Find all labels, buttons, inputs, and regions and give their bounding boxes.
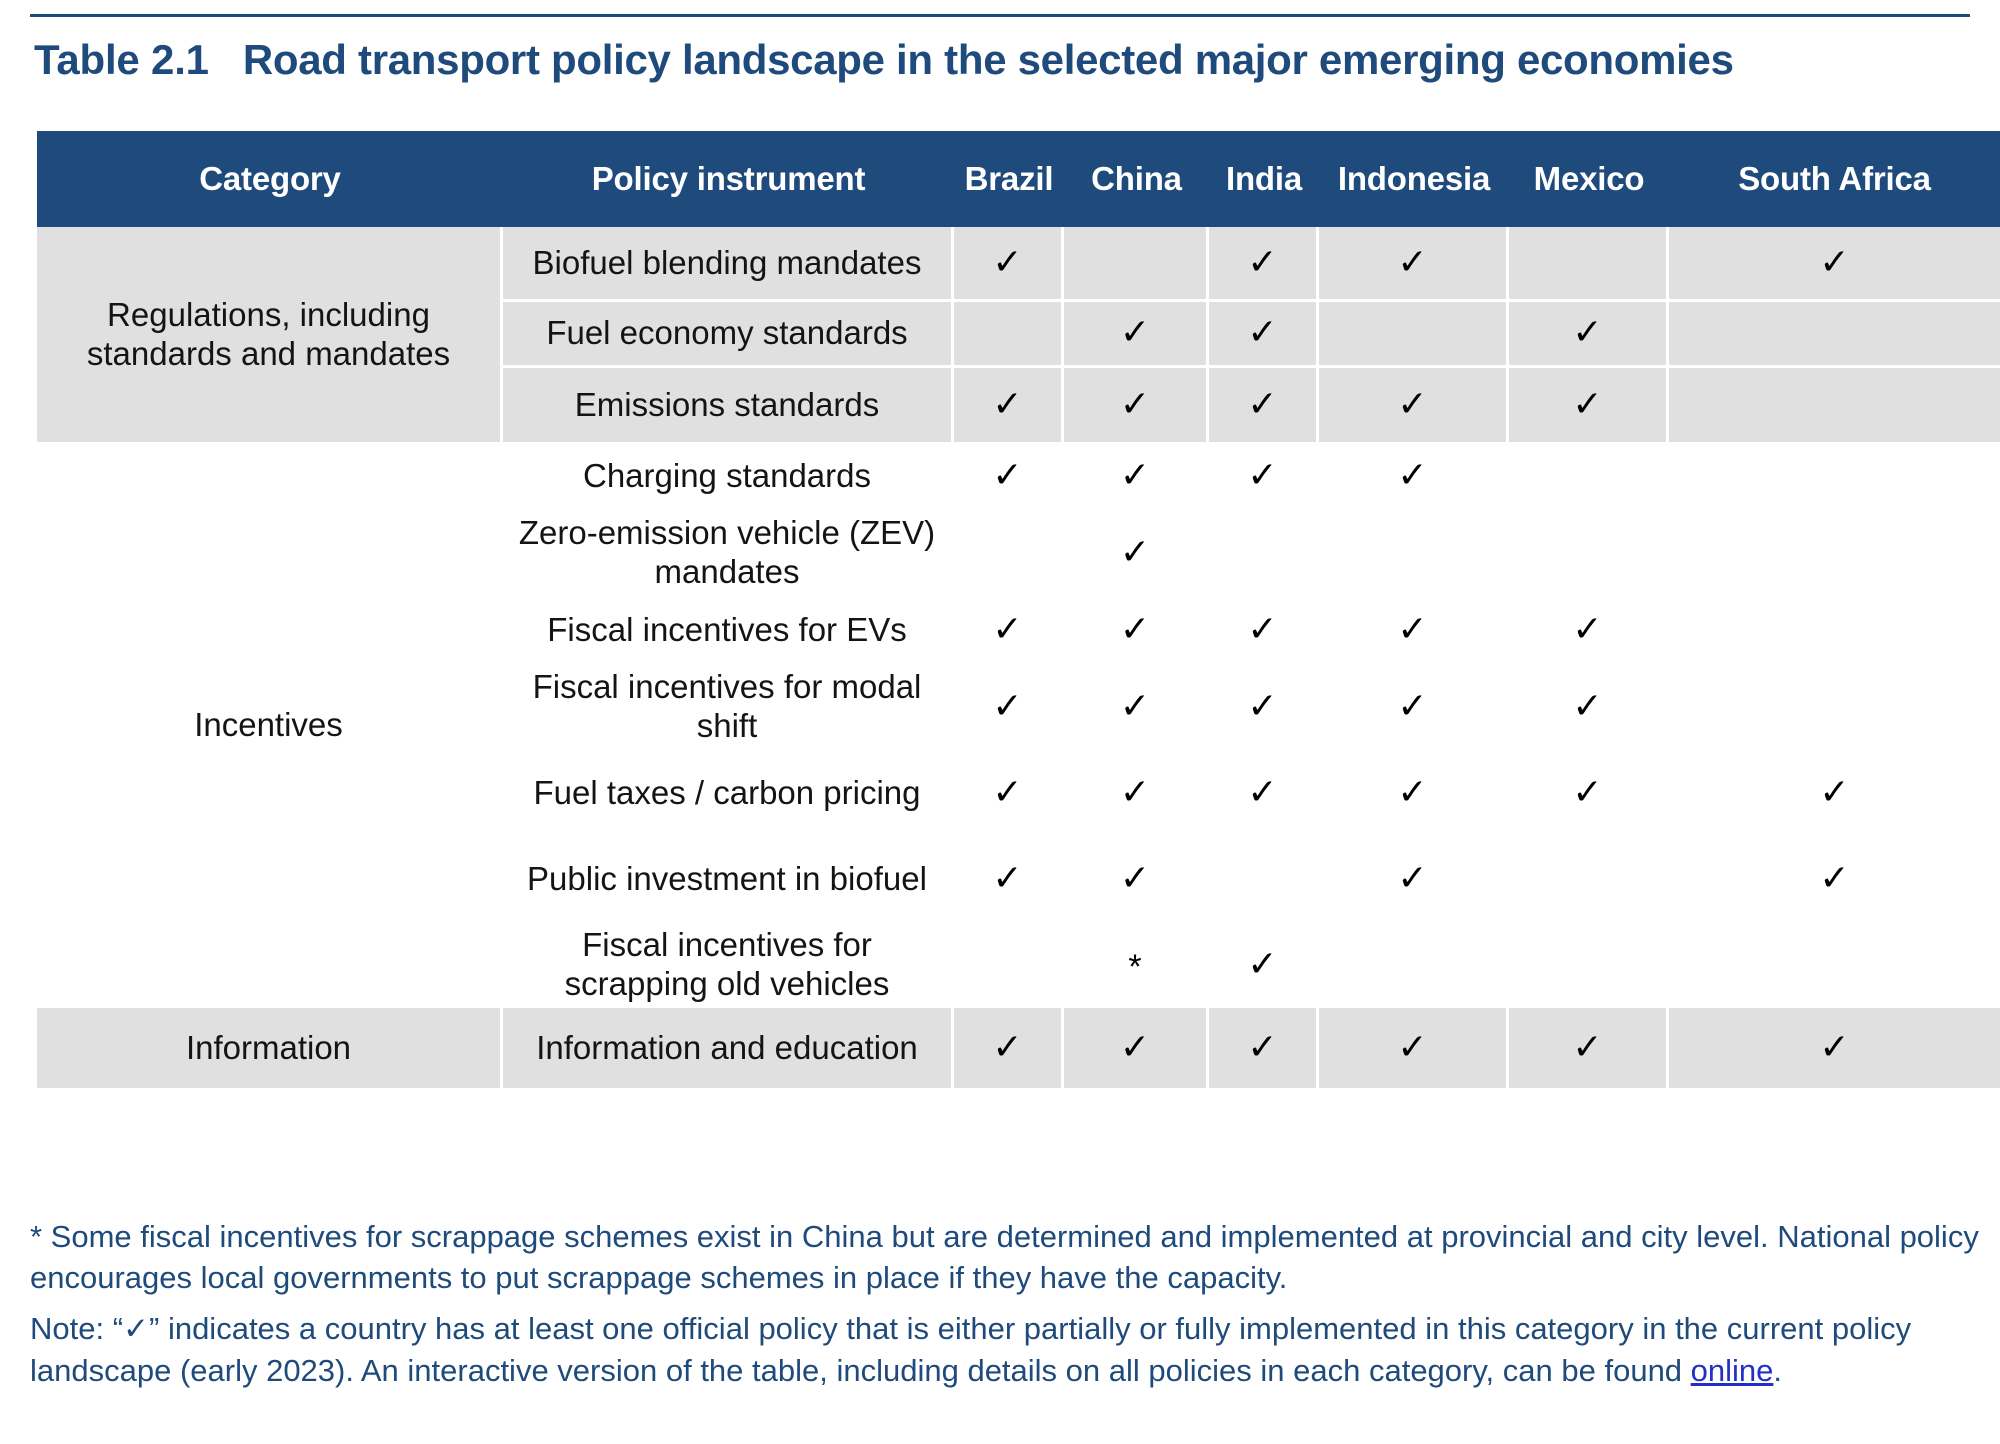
category-label: Information — [37, 1029, 500, 1068]
policy-table-container: Category Policy instrument Brazil China … — [37, 131, 2000, 1088]
policy-mark-cell: ✓ — [954, 227, 1064, 302]
policy-mark-cell — [1209, 510, 1319, 596]
policy-mark-cell — [954, 302, 1064, 368]
category-cell: Regulations, including standards and man… — [37, 227, 503, 442]
policy-mark-cell: ✓ — [1509, 368, 1669, 442]
policy-mark-cell: ✓ — [954, 368, 1064, 442]
policy-instrument-label: Information and education — [503, 1029, 951, 1068]
check-icon: ✓ — [1819, 861, 1849, 897]
check-icon: ✓ — [1120, 775, 1150, 811]
policy-instrument-label: Fiscal incentives for scrapping old vehi… — [503, 926, 951, 1004]
policy-instrument-cell: Biofuel blending mandates — [503, 227, 954, 302]
policy-mark-cell: ✓ — [1209, 596, 1319, 664]
asterisk-icon: * — [1128, 950, 1141, 984]
policy-mark-cell: ✓ — [1509, 1008, 1669, 1088]
policy-mark-cell — [1064, 227, 1209, 302]
policy-mark-cell: ✓ — [1319, 1008, 1509, 1088]
check-icon: ✓ — [1247, 458, 1277, 494]
table-row: Regulations, including standards and man… — [37, 227, 2000, 302]
page-title: Table 2.1 Road transport policy landscap… — [34, 36, 1734, 84]
check-icon: ✓ — [1397, 245, 1427, 281]
column-header-brazil: Brazil — [954, 131, 1064, 227]
check-icon: ✓ — [992, 612, 1022, 648]
policy-mark-cell — [1669, 664, 2000, 750]
policy-mark-cell — [954, 922, 1064, 1008]
header-row: Category Policy instrument Brazil China … — [37, 131, 2000, 227]
policy-mark-cell — [1509, 227, 1669, 302]
policy-mark-cell: ✓ — [1064, 302, 1209, 368]
check-icon: ✓ — [1247, 775, 1277, 811]
policy-mark-cell: ✓ — [954, 1008, 1064, 1088]
policy-instrument-cell: Fiscal incentives for modal shift — [503, 664, 954, 750]
check-icon: ✓ — [1247, 315, 1277, 351]
policy-mark-cell: ✓ — [1319, 227, 1509, 302]
check-icon: ✓ — [1572, 775, 1602, 811]
category-cell: Information — [37, 1008, 503, 1088]
policy-instrument-label: Public investment in biofuel — [503, 860, 951, 899]
policy-mark-cell — [1209, 836, 1319, 922]
check-icon: ✓ — [992, 1030, 1022, 1066]
policy-mark-cell: ✓ — [1209, 442, 1319, 510]
note-text-before-link: Note: “✓” indicates a country has at lea… — [30, 1311, 1911, 1387]
policy-mark-cell: ✓ — [1064, 510, 1209, 596]
policy-mark-cell — [1509, 922, 1669, 1008]
check-icon: ✓ — [1397, 387, 1427, 423]
footnote-asterisk: * Some fiscal incentives for scrappage s… — [30, 1216, 1985, 1298]
check-icon: ✓ — [1397, 458, 1427, 494]
policy-mark-cell: ✓ — [1064, 1008, 1209, 1088]
check-icon: ✓ — [1397, 775, 1427, 811]
check-icon: ✓ — [1572, 689, 1602, 725]
policy-mark-cell: ✓ — [1319, 836, 1509, 922]
check-icon: ✓ — [1247, 612, 1277, 648]
check-icon: ✓ — [992, 458, 1022, 494]
table-page: Table 2.1 Road transport policy landscap… — [0, 0, 2000, 1444]
policy-mark-cell: ✓ — [1319, 596, 1509, 664]
check-icon: ✓ — [1120, 689, 1150, 725]
table-row: IncentivesCharging standards✓✓✓✓ — [37, 442, 2000, 510]
policy-mark-cell: ✓ — [1064, 750, 1209, 836]
check-icon: ✓ — [992, 689, 1022, 725]
column-header-india: India — [1209, 131, 1319, 227]
policy-mark-cell — [1669, 596, 2000, 664]
policy-mark-cell: ✓ — [954, 442, 1064, 510]
policy-mark-cell: ✓ — [954, 596, 1064, 664]
column-header-category: Category — [37, 131, 503, 227]
policy-instrument-label: Fuel economy standards — [503, 314, 951, 353]
check-icon: ✓ — [992, 387, 1022, 423]
policy-mark-cell: ✓ — [1209, 922, 1319, 1008]
policy-instrument-cell: Zero-emission vehicle (ZEV) mandates — [503, 510, 954, 596]
table-row: InformationInformation and education✓✓✓✓… — [37, 1008, 2000, 1088]
table-body: Regulations, including standards and man… — [37, 227, 2000, 1088]
policy-instrument-cell: Fuel taxes / carbon pricing — [503, 750, 954, 836]
policy-mark-cell: ✓ — [1319, 664, 1509, 750]
check-icon: ✓ — [1247, 689, 1277, 725]
policy-instrument-cell: Fiscal incentives for scrapping old vehi… — [503, 922, 954, 1008]
table-header: Category Policy instrument Brazil China … — [37, 131, 2000, 227]
check-icon: ✓ — [1120, 535, 1150, 571]
policy-mark-cell — [1319, 922, 1509, 1008]
online-link[interactable]: online — [1691, 1353, 1774, 1388]
policy-mark-cell: ✓ — [954, 836, 1064, 922]
policy-mark-cell: ✓ — [954, 664, 1064, 750]
check-icon: ✓ — [1120, 861, 1150, 897]
policy-mark-cell: ✓ — [1669, 227, 2000, 302]
policy-instrument-cell: Fuel economy standards — [503, 302, 954, 368]
check-icon: ✓ — [1247, 387, 1277, 423]
check-icon: ✓ — [1120, 387, 1150, 423]
policy-mark-cell — [1509, 442, 1669, 510]
check-icon: ✓ — [1572, 612, 1602, 648]
note-paragraph: Note: “✓” indicates a country has at lea… — [30, 1308, 1985, 1390]
table-notes: * Some fiscal incentives for scrappage s… — [30, 1216, 1985, 1401]
policy-mark-cell: ✓ — [1209, 750, 1319, 836]
table-number-label: Table 2.1 — [34, 36, 209, 84]
column-header-mexico: Mexico — [1509, 131, 1669, 227]
check-icon: ✓ — [1120, 458, 1150, 494]
policy-mark-cell: ✓ — [1669, 836, 2000, 922]
check-icon: ✓ — [1572, 387, 1602, 423]
policy-instrument-cell: Fiscal incentives for EVs — [503, 596, 954, 664]
check-icon: ✓ — [1247, 1030, 1277, 1066]
policy-mark-cell: ✓ — [1509, 750, 1669, 836]
policy-mark-cell: ✓ — [1209, 227, 1319, 302]
policy-instrument-label: Zero-emission vehicle (ZEV) mandates — [503, 514, 951, 592]
table-title-text: Road transport policy landscape in the s… — [243, 36, 1734, 84]
policy-mark-cell: ✓ — [1319, 750, 1509, 836]
check-icon: ✓ — [1397, 861, 1427, 897]
policy-mark-cell — [1509, 836, 1669, 922]
policy-instrument-cell: Public investment in biofuel — [503, 836, 954, 922]
policy-mark-cell — [1669, 510, 2000, 596]
policy-mark-cell — [1669, 442, 2000, 510]
check-icon: ✓ — [1819, 1030, 1849, 1066]
policy-mark-cell: * — [1064, 922, 1209, 1008]
top-rule-divider — [30, 14, 1970, 17]
policy-instrument-cell: Charging standards — [503, 442, 954, 510]
policy-instrument-label: Fuel taxes / carbon pricing — [503, 774, 951, 813]
policy-instrument-cell: Emissions standards — [503, 368, 954, 442]
check-icon: ✓ — [992, 861, 1022, 897]
check-icon: ✓ — [992, 775, 1022, 811]
policy-mark-cell: ✓ — [1209, 664, 1319, 750]
policy-mark-cell: ✓ — [1319, 442, 1509, 510]
check-icon: ✓ — [1819, 245, 1849, 281]
check-icon: ✓ — [1120, 315, 1150, 351]
check-icon: ✓ — [1572, 1030, 1602, 1066]
policy-table: Category Policy instrument Brazil China … — [37, 131, 2000, 1088]
check-icon: ✓ — [1819, 775, 1849, 811]
policy-mark-cell — [1319, 510, 1509, 596]
column-header-policy-instrument: Policy instrument — [503, 131, 954, 227]
policy-mark-cell: ✓ — [1209, 1008, 1319, 1088]
check-icon: ✓ — [1572, 315, 1602, 351]
policy-mark-cell — [1669, 922, 2000, 1008]
policy-mark-cell: ✓ — [1209, 368, 1319, 442]
policy-mark-cell: ✓ — [1209, 302, 1319, 368]
policy-mark-cell: ✓ — [1509, 664, 1669, 750]
policy-mark-cell: ✓ — [1064, 442, 1209, 510]
policy-mark-cell: ✓ — [1319, 368, 1509, 442]
check-icon: ✓ — [1247, 947, 1277, 983]
policy-mark-cell: ✓ — [1669, 750, 2000, 836]
category-label: Regulations, including standards and man… — [37, 296, 500, 374]
policy-instrument-label: Fiscal incentives for modal shift — [503, 668, 951, 746]
policy-instrument-label: Biofuel blending mandates — [503, 244, 951, 283]
policy-instrument-cell: Information and education — [503, 1008, 954, 1088]
policy-instrument-label: Emissions standards — [503, 386, 951, 425]
policy-mark-cell: ✓ — [1064, 836, 1209, 922]
column-header-indonesia: Indonesia — [1319, 131, 1509, 227]
policy-mark-cell: ✓ — [1064, 368, 1209, 442]
policy-mark-cell — [1669, 302, 2000, 368]
check-icon: ✓ — [992, 245, 1022, 281]
policy-instrument-label: Fiscal incentives for EVs — [503, 611, 951, 650]
column-header-china: China — [1064, 131, 1209, 227]
check-icon: ✓ — [1397, 1030, 1427, 1066]
policy-mark-cell — [1669, 368, 2000, 442]
policy-mark-cell: ✓ — [954, 750, 1064, 836]
category-label: Incentives — [37, 706, 500, 745]
check-icon: ✓ — [1120, 1030, 1150, 1066]
policy-mark-cell: ✓ — [1669, 1008, 2000, 1088]
check-icon: ✓ — [1397, 612, 1427, 648]
policy-mark-cell — [1319, 302, 1509, 368]
policy-mark-cell: ✓ — [1064, 596, 1209, 664]
column-header-south-africa: South Africa — [1669, 131, 2000, 227]
check-icon: ✓ — [1247, 245, 1277, 281]
check-icon: ✓ — [1120, 612, 1150, 648]
check-icon: ✓ — [1397, 689, 1427, 725]
policy-instrument-label: Charging standards — [503, 457, 951, 496]
policy-mark-cell — [954, 510, 1064, 596]
category-cell: Incentives — [37, 442, 503, 1008]
policy-mark-cell: ✓ — [1064, 664, 1209, 750]
note-text-after-link: . — [1773, 1353, 1782, 1388]
policy-mark-cell: ✓ — [1509, 596, 1669, 664]
policy-mark-cell — [1509, 510, 1669, 596]
policy-mark-cell: ✓ — [1509, 302, 1669, 368]
